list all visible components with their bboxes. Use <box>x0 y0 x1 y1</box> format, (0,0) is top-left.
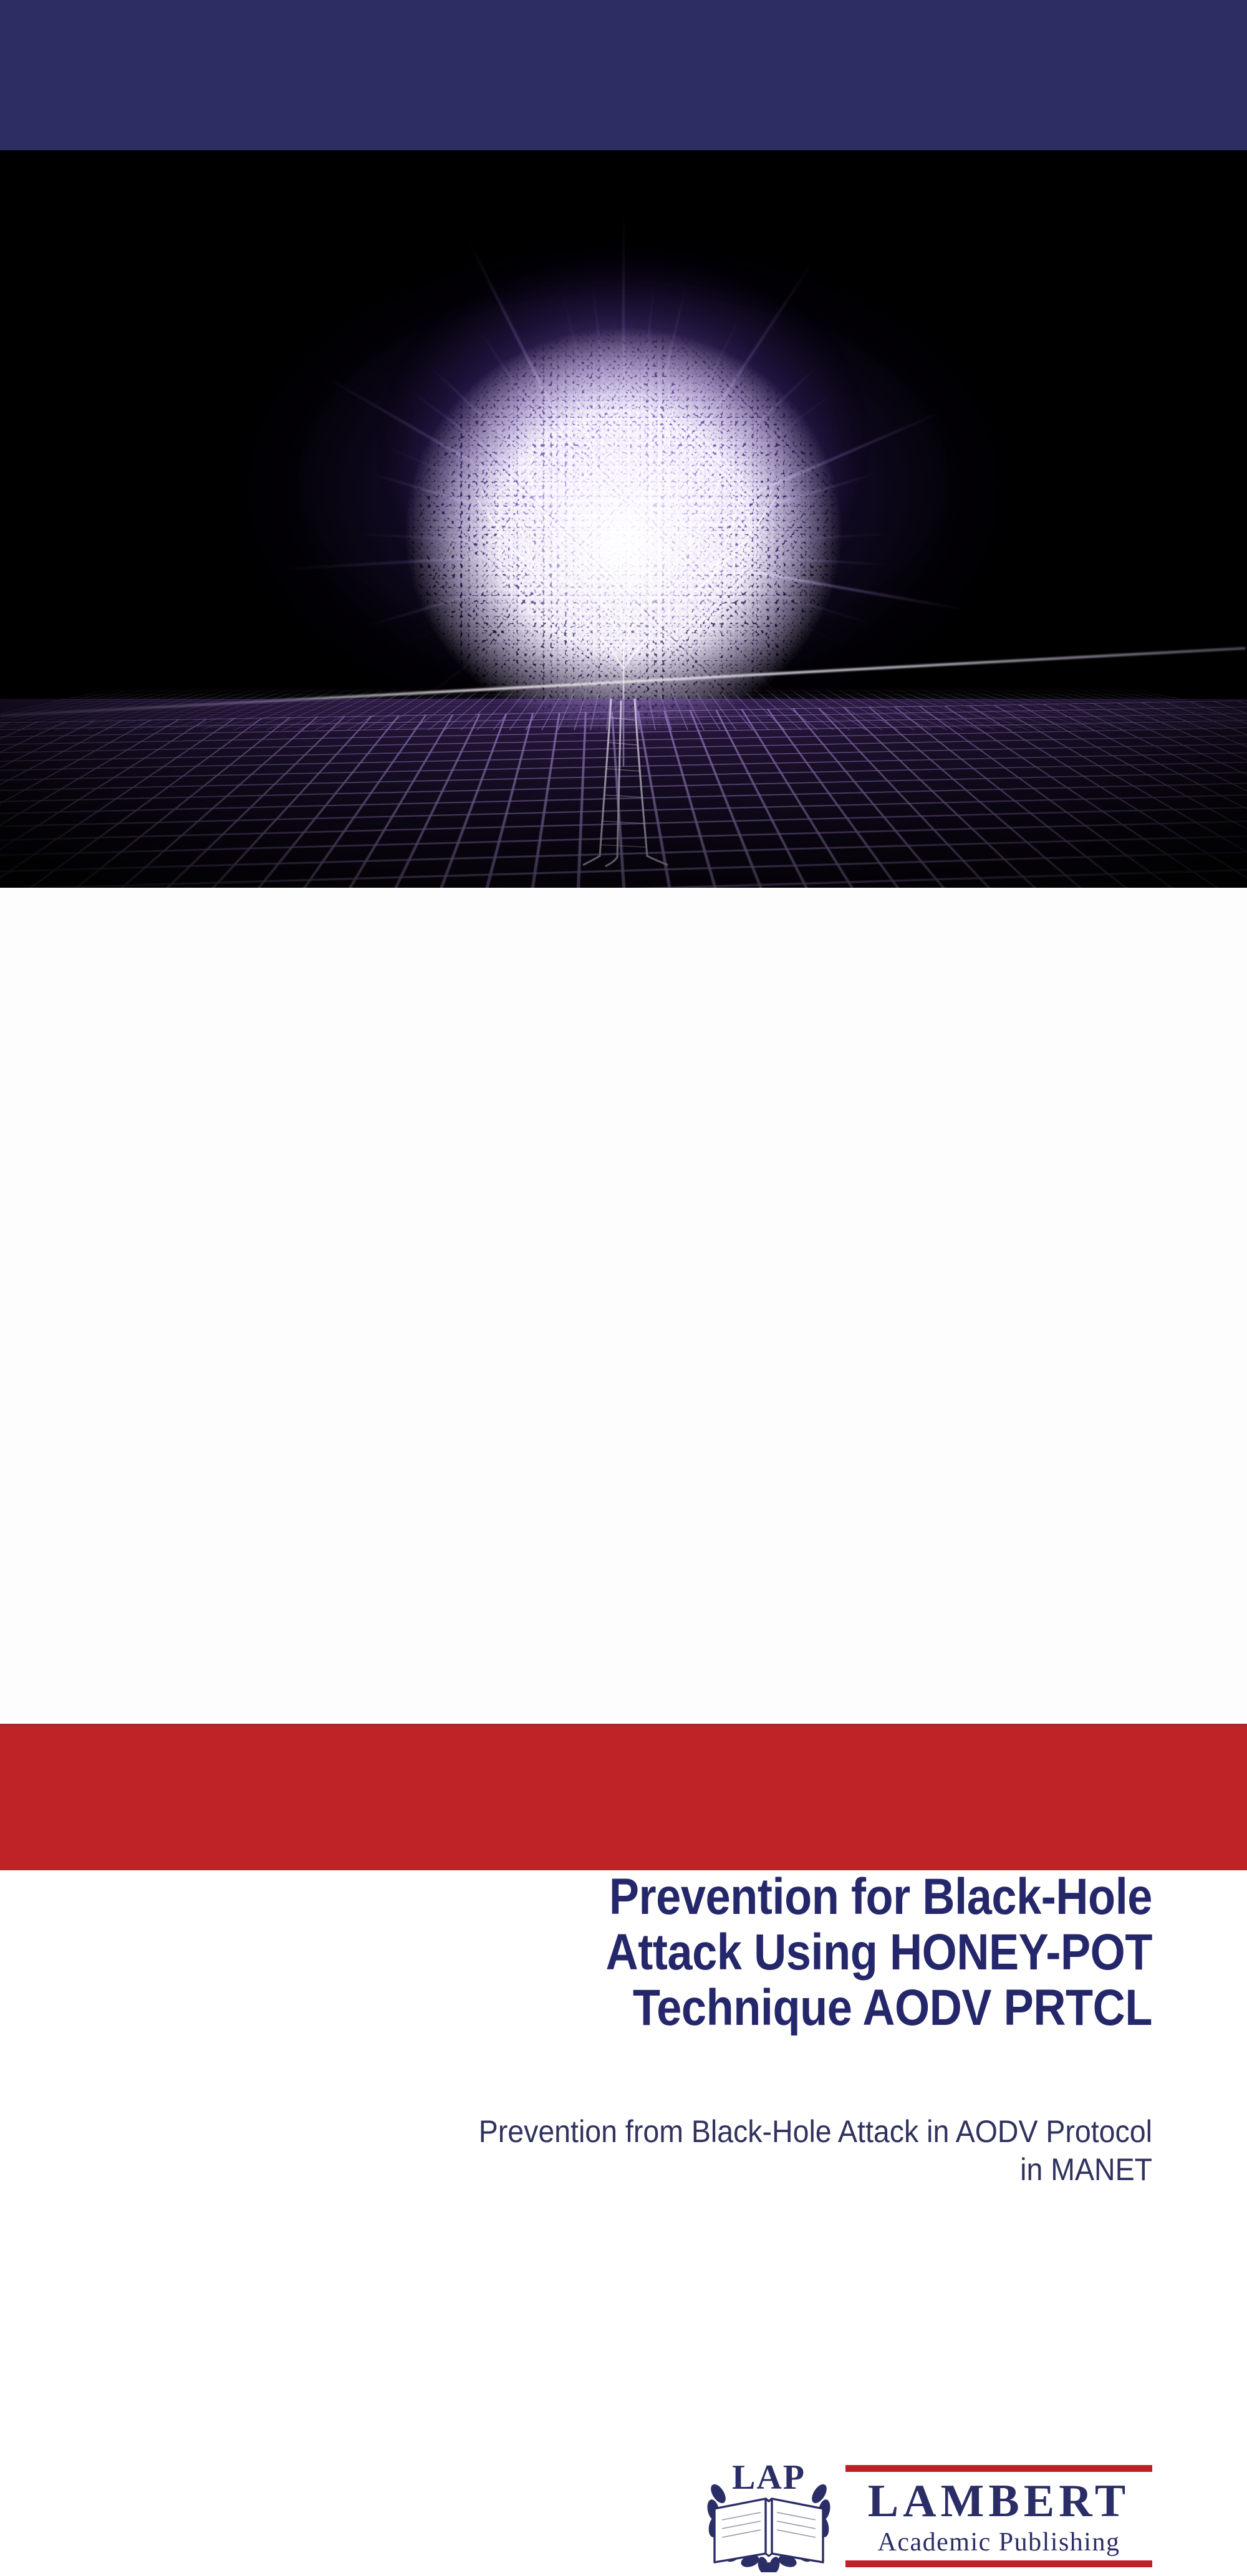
publisher-logo: LAP LAMBERT Academic Publishing <box>703 2460 1152 2576</box>
publisher-name: LAMBERT <box>845 2475 1152 2527</box>
top-color-band <box>0 0 1247 150</box>
cover-text-panel: Huma Tariq Prevention for Black-Hole Att… <box>0 888 1247 1724</box>
cover-artwork <box>0 150 1247 888</box>
bottom-color-band <box>0 1724 1247 1870</box>
subtitle-line-1: Prevention from Black-Hole Attack in AOD… <box>340 2113 1152 2151</box>
publisher-tagline: Academic Publishing <box>845 2527 1152 2557</box>
lap-emblem-icon: LAP <box>703 2463 834 2572</box>
subtitle-line-2: in MANET <box>340 2151 1152 2189</box>
svg-text:LAP: LAP <box>732 2463 806 2497</box>
logo-rule-bottom <box>845 2560 1152 2567</box>
tree-trunk-icon <box>567 699 680 867</box>
title-line-3: Technique AODV PRTCL <box>318 1981 1152 2036</box>
logo-rule-top <box>845 2465 1152 2472</box>
tree-trunk <box>567 699 680 867</box>
book-subtitle: Prevention from Black-Hole Attack in AOD… <box>340 2113 1152 2189</box>
bottom-band-hairline <box>0 1724 1247 1726</box>
title-line-2: Attack Using HONEY-POT <box>318 1925 1152 1981</box>
title-line-1: Prevention for Black-Hole <box>318 1870 1152 1925</box>
book-title: Prevention for Black-Hole Attack Using H… <box>318 1870 1152 2036</box>
